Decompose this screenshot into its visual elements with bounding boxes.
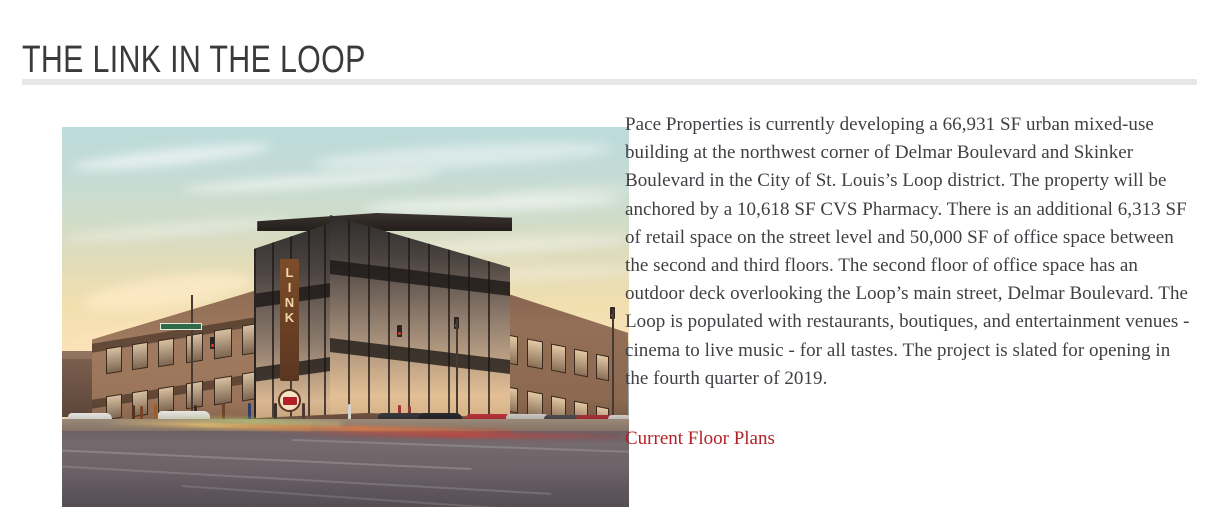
- traffic-light-icon: [210, 337, 215, 349]
- roof-parapet: [252, 213, 512, 231]
- window: [214, 376, 232, 406]
- cloud: [312, 137, 613, 175]
- link-vertical-sign: L I N K: [280, 259, 299, 381]
- description-column: Pace Properties is currently developing …: [625, 111, 1192, 451]
- pedestrian: [140, 406, 143, 419]
- signal-pole: [191, 295, 193, 427]
- street-name-sign: [160, 323, 202, 330]
- traffic-light-icon: [397, 325, 402, 337]
- project-rendering-image: L I N K cvs pharmacy Photo: [62, 127, 629, 507]
- signal-pole: [612, 309, 614, 421]
- content-area: L I N K cvs pharmacy Photo: [0, 111, 1219, 498]
- project-description: Pace Properties is currently developing …: [625, 111, 1192, 393]
- signal-pole: [456, 319, 458, 427]
- window: [132, 342, 148, 371]
- page-title: THE LINK IN THE LOOP: [22, 38, 366, 82]
- link-sign-letter: N: [285, 295, 294, 310]
- pedestrian: [154, 404, 157, 419]
- pedestrian: [348, 404, 351, 419]
- window: [106, 346, 122, 375]
- pedestrian: [222, 403, 225, 419]
- window: [596, 354, 609, 382]
- window: [574, 349, 588, 378]
- current-floor-plans-link[interactable]: Current Floor Plans: [625, 427, 775, 451]
- link-sign-letter: K: [285, 310, 294, 325]
- window: [214, 328, 232, 360]
- pedestrian: [302, 403, 305, 419]
- window: [186, 333, 203, 364]
- pedestrian: [132, 405, 135, 419]
- pedestrian: [248, 403, 251, 419]
- header-divider: [22, 79, 1197, 85]
- window: [527, 338, 543, 369]
- link-sign-letter: I: [288, 280, 292, 295]
- link-sign-letter: L: [286, 265, 294, 280]
- rendering-scene: L I N K cvs pharmacy Photo: [62, 127, 629, 507]
- page-root: THE LINK IN THE LOOP: [0, 0, 1219, 498]
- window: [158, 338, 174, 368]
- street: [62, 431, 629, 507]
- pedestrian: [274, 403, 277, 419]
- window: [551, 344, 566, 374]
- cloud: [72, 139, 273, 176]
